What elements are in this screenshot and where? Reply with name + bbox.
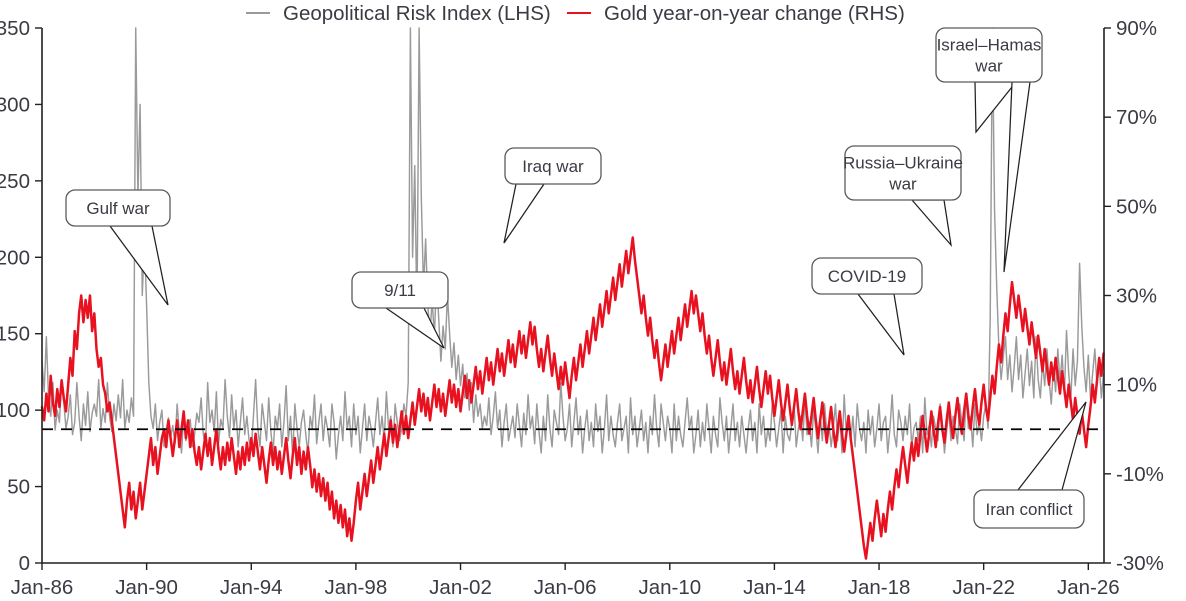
annotation-iran-conflict[interactable]: Iran conflict	[974, 490, 1084, 528]
annotation-label-iran-conflict: Iran conflict	[986, 500, 1073, 519]
annotation-pointer-iran-conflict	[1018, 402, 1086, 490]
annotation-label-israel-hamas-war: war	[974, 57, 1003, 76]
annotation-covid-19[interactable]: COVID-19	[812, 258, 922, 294]
x-tick-label-9: Jan-22	[952, 576, 1015, 599]
annotation-pointer-iraq-war	[504, 184, 544, 243]
annotation-russia-ukraine-war[interactable]: Russia–Ukrainewar	[843, 146, 963, 200]
y-tick-label-left-7: 350	[0, 17, 30, 40]
y-tick-label-left-1: 50	[7, 476, 30, 499]
annotation-label-iraq-war: Iraq war	[522, 157, 584, 176]
y-tick-label-right-1: -10%	[1116, 463, 1164, 486]
x-tick-label-7: Jan-14	[743, 576, 806, 599]
y-tick-label-right-6: 90%	[1116, 17, 1157, 40]
series-line-gpr	[42, 28, 1104, 459]
chart-container: Geopolitical Risk Index (LHS)Gold year-o…	[0, 0, 1186, 601]
annotation-pointer-gulf-war	[110, 226, 168, 305]
annotation-pointer-russia-ukraine-war	[912, 200, 951, 245]
x-tick-label-4: Jan-02	[429, 576, 492, 599]
legend-label-0: Geopolitical Risk Index (LHS)	[283, 2, 551, 25]
x-tick-label-5: Jan-06	[534, 576, 597, 599]
legend-label-1: Gold year-on-year change (RHS)	[604, 2, 905, 25]
annotation-label-israel-hamas-war: Israel–Hamas	[937, 36, 1042, 55]
y-tick-label-left-3: 150	[0, 323, 30, 346]
x-tick-label-10: Jan-26	[1057, 576, 1120, 599]
x-tick-label-1: Jan-90	[115, 576, 178, 599]
x-tick-label-0: Jan-86	[11, 576, 74, 599]
x-tick-label-3: Jan-98	[325, 576, 388, 599]
annotation-iraq-war[interactable]: Iraq war	[505, 148, 601, 184]
annotation-gulf-war[interactable]: Gulf war	[66, 190, 170, 226]
series-group	[42, 28, 1104, 559]
y-tick-label-left-5: 250	[0, 170, 30, 193]
y-tick-label-right-3: 30%	[1116, 285, 1157, 308]
y-tick-label-left-2: 100	[0, 399, 30, 422]
y-tick-label-right-4: 50%	[1116, 195, 1157, 218]
y-tick-label-right-5: 70%	[1116, 106, 1157, 129]
geopolitical-risk-gold-chart: Geopolitical Risk Index (LHS)Gold year-o…	[0, 0, 1186, 601]
annotation-israel-hamas-war[interactable]: Israel–Hamaswar	[936, 28, 1042, 82]
annotation-pointer2-israel-hamas-war	[1004, 82, 1030, 272]
y-tick-label-right-0: -30%	[1116, 552, 1164, 575]
annotation-pointer-covid-19	[858, 294, 904, 355]
y-tick-label-right-2: 10%	[1116, 374, 1157, 397]
annotation-label-covid-19: COVID-19	[828, 267, 906, 286]
chart-legend: Geopolitical Risk Index (LHS)Gold year-o…	[246, 2, 905, 25]
annotation-nine-eleven[interactable]: 9/11	[352, 272, 448, 308]
y-tick-label-left-6: 300	[0, 93, 30, 116]
annotation-label-gulf-war: Gulf war	[86, 199, 150, 218]
y-tick-label-left-4: 200	[0, 246, 30, 269]
annotation-label-nine-eleven: 9/11	[384, 281, 416, 300]
x-tick-label-8: Jan-18	[848, 576, 911, 599]
x-tick-label-2: Jan-94	[220, 576, 283, 599]
annotation-label-russia-ukraine-war: war	[888, 175, 917, 194]
x-tick-label-6: Jan-10	[638, 576, 701, 599]
plot-area	[42, 28, 1104, 559]
annotation-label-russia-ukraine-war: Russia–Ukraine	[843, 154, 963, 173]
y-tick-label-left-0: 0	[19, 552, 30, 575]
